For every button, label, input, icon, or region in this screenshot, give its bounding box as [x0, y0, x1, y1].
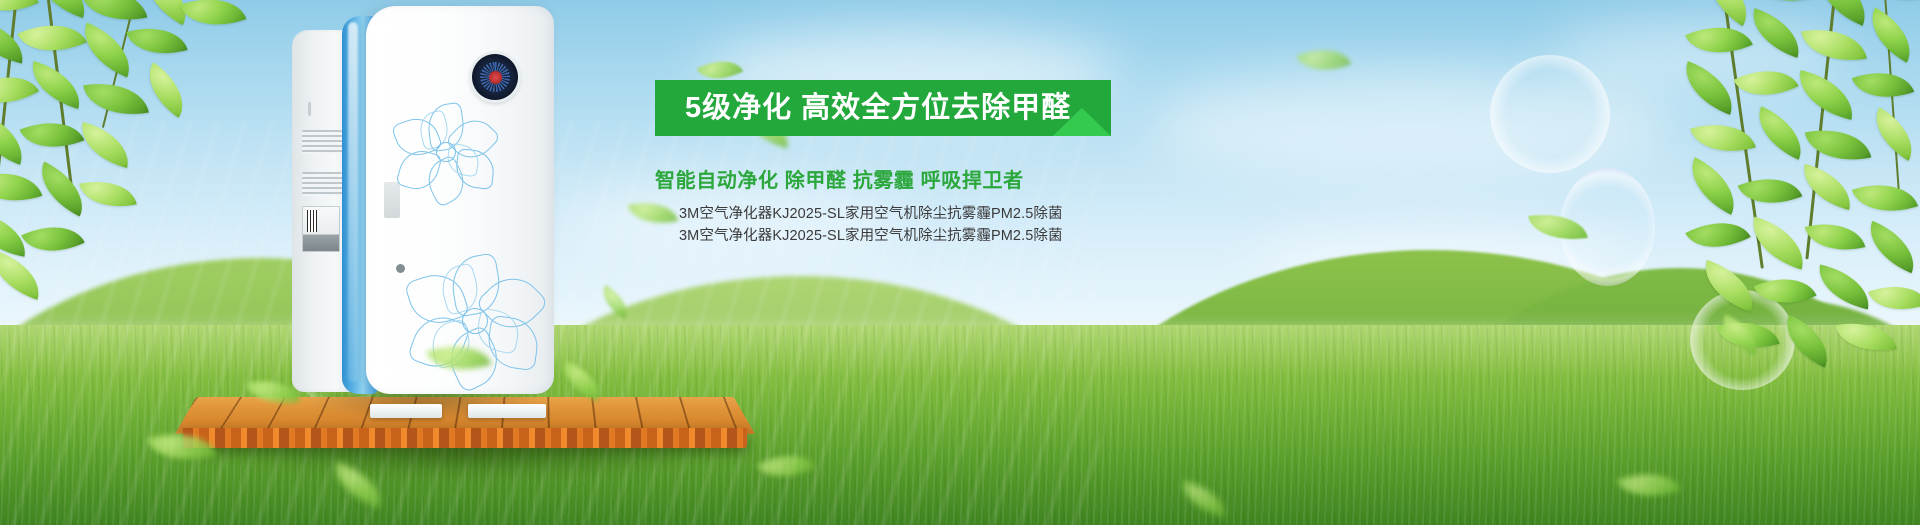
vent-upper	[302, 130, 342, 154]
air-purifier	[292, 6, 554, 416]
copy-block: 5级净化 高效全方位去除甲醛 智能自动净化 除甲醛 抗雾霾 呼吸捍卫者 3M空气…	[655, 80, 1415, 248]
vent-lower	[302, 172, 342, 196]
purifier-spine-gloss	[348, 22, 358, 382]
foot-right	[468, 404, 546, 418]
control-dial[interactable]	[472, 54, 518, 100]
deck-front-edge	[183, 428, 747, 448]
description-line-1: 3M空气净化器KJ2025-SL家用空气机除尘抗雾霾PM2.5除菌	[679, 203, 1415, 225]
subheadline-text: 智能自动净化 除甲醛 抗雾霾 呼吸捍卫者	[655, 164, 1415, 193]
purifier-port	[396, 264, 405, 273]
foot-left	[370, 404, 442, 418]
description-line-2: 3M空气净化器KJ2025-SL家用空气机除尘抗雾霾PM2.5除菌	[679, 225, 1415, 247]
purifier-side-slot	[384, 182, 400, 218]
bokeh-upper-right	[1490, 55, 1610, 173]
promo-banner: 5级净化 高效全方位去除甲醛 智能自动净化 除甲醛 抗雾霾 呼吸捍卫者 3M空气…	[0, 0, 1920, 525]
headline-text: 5级净化 高效全方位去除甲醛	[685, 80, 1071, 136]
warning-label	[302, 206, 340, 252]
deck-shadow	[195, 446, 740, 480]
headline-banner: 5级净化 高效全方位去除甲醛	[655, 80, 1111, 136]
purifier-slot	[308, 102, 311, 116]
product-description: 3M空气净化器KJ2025-SL家用空气机除尘抗雾霾PM2.5除菌 3M空气净化…	[679, 203, 1415, 248]
